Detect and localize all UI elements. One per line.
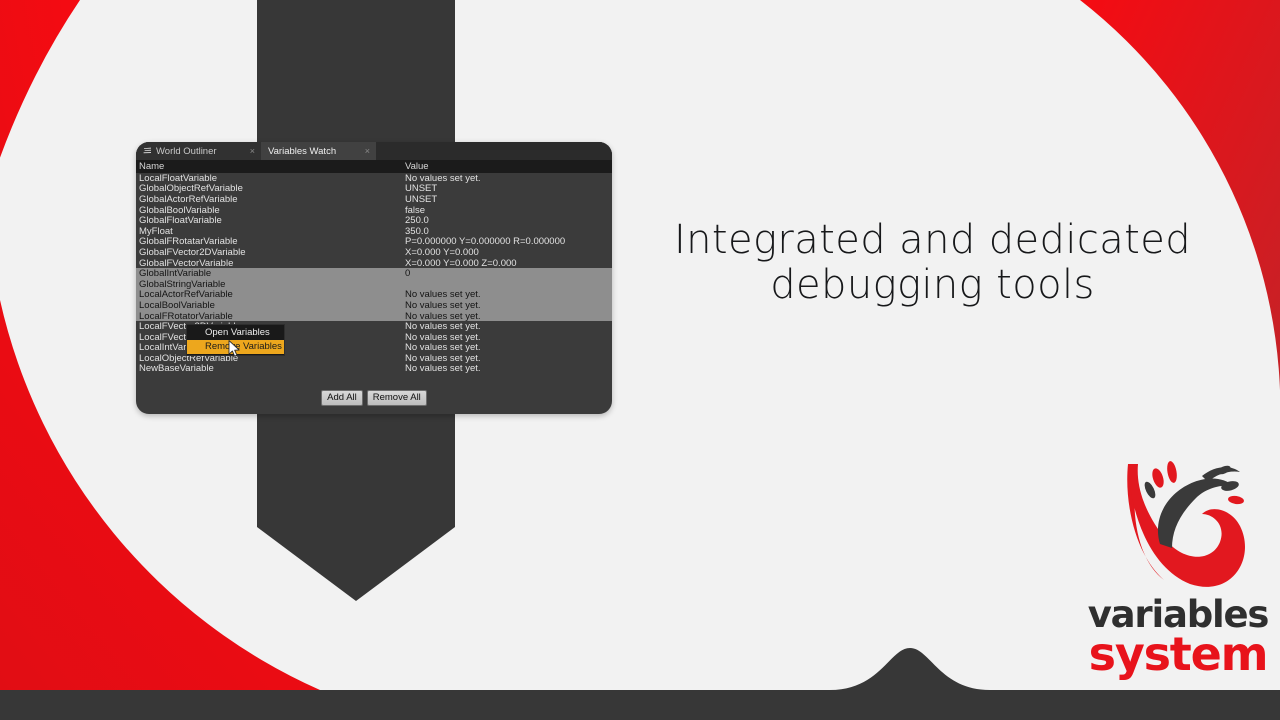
panel-footer: Add All Remove All [136,390,612,406]
context-menu: Open VariablesRemove Variables [186,324,285,356]
table-row[interactable]: GlobalFRotatarVariableP=0.000000 Y=0.000… [136,237,612,248]
table-row[interactable]: GlobalStringVariable [136,279,612,290]
headline: Integrated and dedicated debugging tools [660,218,1205,308]
row-variable-value: UNSET [405,183,612,194]
hamburger-icon [143,147,152,155]
context-menu-item[interactable]: Open Variables [187,326,284,340]
table-row[interactable]: LocalActorRefVariableNo values set yet. [136,290,612,301]
row-variable-value: X=0.000 Y=0.000 [405,247,612,258]
table-row[interactable]: GlobalObjectRefVariableUNSET [136,184,612,195]
row-variable-value: 0 [405,268,612,279]
tabbar-empty-space [376,142,612,160]
row-variable-name: GlobalFRotatarVariable [136,236,405,247]
variables-watch-panel: World Outliner × Variables Watch × Name … [136,142,612,414]
slide-canvas: Integrated and dedicated debugging tools… [0,0,1280,720]
add-all-button[interactable]: Add All [321,390,363,406]
row-variable-name: LocalFloatVariable [136,173,405,184]
row-variable-value: No values set yet. [405,321,612,332]
tab-label-world-outliner: World Outliner [156,146,246,157]
column-header-row: Name Value [136,160,612,173]
table-row[interactable]: LocalBoolVariableNo values set yet. [136,300,612,311]
table-row[interactable]: NewBaseVariableNo values set yet. [136,364,612,375]
table-row[interactable]: GlobalIntVariable0 [136,268,612,279]
logo-wordmark: variables system [1082,596,1274,677]
row-variable-value: 250.0 [405,215,612,226]
column-header-name[interactable]: Name [136,161,405,172]
column-header-value[interactable]: Value [405,161,612,172]
table-row[interactable]: MyFloat350.0 [136,226,612,237]
row-variable-value: 350.0 [405,226,612,237]
table-row[interactable]: GlobalActorRefVariableUNSET [136,194,612,205]
row-variable-value: No values set yet. [405,342,612,353]
row-variable-name: LocalActorRefVariable [136,289,405,300]
row-variable-name: GlobalBoolVariable [136,205,405,216]
row-variable-name: GlobalFVectorVariable [136,258,405,269]
row-variable-value: No values set yet. [405,173,612,184]
vs-splash-mark-icon [1106,452,1256,600]
row-variable-name: LocalFRotatorVariable [136,311,405,322]
row-variable-value: false [405,205,612,216]
panel-tabbar: World Outliner × Variables Watch × [136,142,612,160]
logo-word-system: system [1082,631,1274,677]
row-variable-value: No values set yet. [405,363,612,374]
row-variable-value: No values set yet. [405,353,612,364]
tab-variables-watch[interactable]: Variables Watch × [261,142,376,160]
table-row[interactable]: GlobalFVector2DVariableX=0.000 Y=0.000 [136,247,612,258]
table-row[interactable]: GlobalFloatVariable250.0 [136,215,612,226]
tab-close-icon-world-outliner[interactable]: × [250,146,255,156]
row-variable-value: UNSET [405,194,612,205]
table-row[interactable]: GlobalFVectorVariableX=0.000 Y=0.000 Z=0… [136,258,612,269]
table-row[interactable]: GlobalBoolVariablefalse [136,205,612,216]
row-variable-value: No values set yet. [405,311,612,322]
remove-all-button[interactable]: Remove All [367,390,427,406]
row-variable-name: NewBaseVariable [136,363,405,374]
table-row[interactable]: LocalFloatVariableNo values set yet. [136,173,612,184]
row-variable-name: GlobalStringVariable [136,279,405,290]
tab-close-icon-variables-watch[interactable]: × [365,146,370,156]
tab-label-variables-watch: Variables Watch [268,146,361,157]
row-variable-value: No values set yet. [405,289,612,300]
row-variable-name: GlobalFloatVariable [136,215,405,226]
brand-logo: variables system [1082,452,1274,680]
row-variable-name: GlobalFVector2DVariable [136,247,405,258]
row-variable-value: No values set yet. [405,300,612,311]
row-variable-name: LocalBoolVariable [136,300,405,311]
row-variable-name: GlobalActorRefVariable [136,194,405,205]
row-variable-name: GlobalObjectRefVariable [136,183,405,194]
tab-world-outliner[interactable]: World Outliner × [136,142,261,160]
row-variable-name: MyFloat [136,226,405,237]
context-menu-item[interactable]: Remove Variables [187,340,284,354]
row-variable-value: X=0.000 Y=0.000 Z=0.000 [405,258,612,269]
row-variable-name: GlobalIntVariable [136,268,405,279]
row-variable-value: No values set yet. [405,332,612,343]
table-row[interactable]: LocalFRotatorVariableNo values set yet. [136,311,612,322]
row-variable-value: P=0.000000 Y=0.000000 R=0.000000 [405,236,612,247]
